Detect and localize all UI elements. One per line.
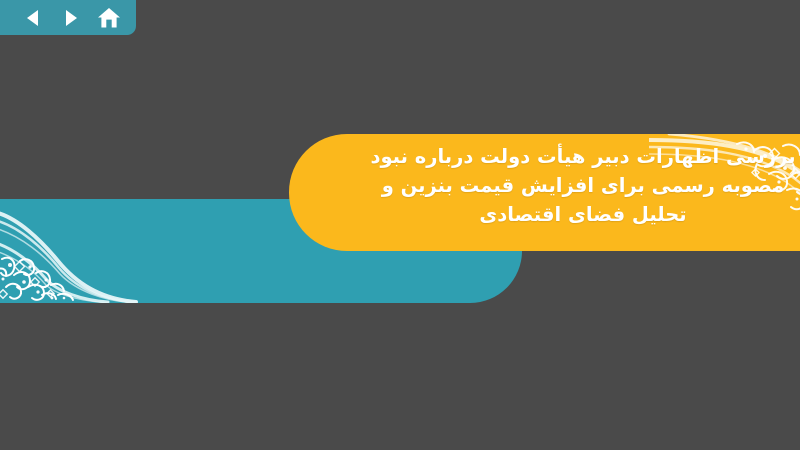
navigation-bar (0, 0, 136, 35)
headline-line-3: تحلیل فضای اقتصادی (341, 200, 800, 229)
headline: بررسی اظهارات دبیر هیأت دولت درباره نبود… (341, 142, 800, 229)
slide-canvas: بررسی اظهارات دبیر هیأت دولت درباره نبود… (0, 0, 800, 450)
forward-arrow-icon (62, 8, 80, 28)
yellow-banner: بررسی اظهارات دبیر هیأت دولت درباره نبود… (289, 134, 800, 251)
home-button[interactable] (98, 6, 120, 30)
headline-line-1: بررسی اظهارات دبیر هیأت دولت درباره نبود (341, 142, 800, 171)
forward-button[interactable] (60, 6, 82, 30)
arabesque-corner-ornament (0, 199, 138, 303)
back-arrow-icon (24, 8, 42, 28)
headline-line-2: مصوبه رسمی برای افزایش قیمت بنزین و (341, 171, 800, 200)
back-button[interactable] (22, 6, 44, 30)
home-icon (97, 7, 121, 29)
